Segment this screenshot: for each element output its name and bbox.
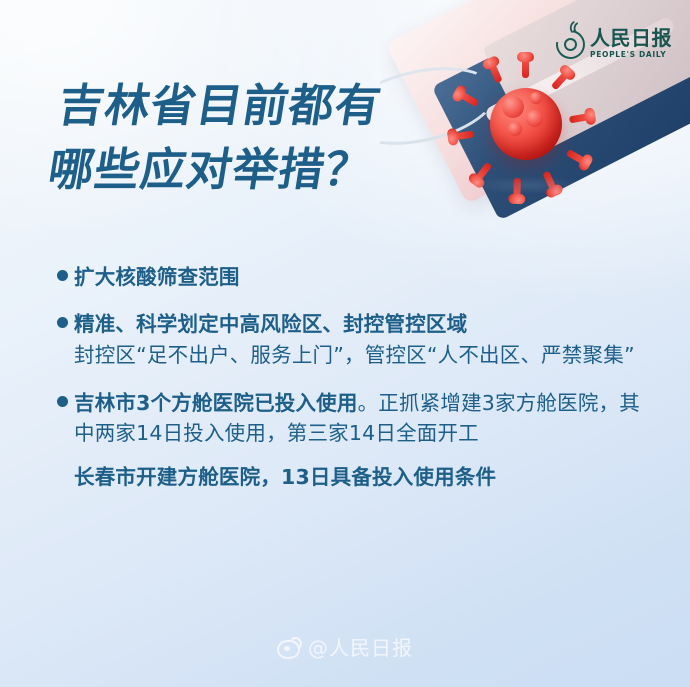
bullet-dot-icon: [57, 396, 68, 407]
poster: 人民日报 PEOPLE'S DAILY 吉林省目前都有 哪些应对举措？ 扩大核酸…: [0, 0, 690, 687]
measure-heading-text: 吉林市3个方舱医院已投入使用。正抓紧增建3家方舱医院，其中两家14日投入使用，第…: [74, 388, 647, 449]
bullet-dot-icon: [57, 270, 68, 281]
weibo-icon: [277, 638, 301, 656]
measure-heading: 扩大核酸筛查范围: [57, 262, 647, 292]
at-sign-icon: [550, 24, 590, 64]
page-title: 吉林省目前都有 哪些应对举措？: [44, 74, 386, 202]
watermark-text: @人民日报: [308, 632, 413, 661]
measure-emphasis-text: 长春市开建方舱医院，13日具备投入使用条件: [74, 462, 647, 493]
list-item: 精准、科学划定中高风险区、封控管控区域 封控区“足不出户、服务上门”，管控区“人…: [57, 309, 647, 370]
measure-bold-text: 扩大核酸筛查范围: [74, 265, 240, 289]
headline-line-2: 哪些应对举措？: [44, 138, 376, 202]
measure-bold-text: 精准、科学划定中高风险区、封控管控区域: [74, 312, 467, 336]
virus-shadow: [476, 176, 580, 194]
measure-heading: 吉林市3个方舱医院已投入使用。正抓紧增建3家方舱医院，其中两家14日投入使用，第…: [57, 388, 647, 449]
measure-heading-text: 精准、科学划定中高风险区、封控管控区域: [74, 309, 647, 339]
peoples-daily-logo: 人民日报 PEOPLE'S DAILY: [556, 28, 672, 59]
bullet-dot-icon: [57, 317, 68, 328]
measure-heading-text: 扩大核酸筛查范围: [74, 262, 647, 292]
measure-heading: 精准、科学划定中高风险区、封控管控区域: [57, 309, 647, 339]
logo-english-name: PEOPLE'S DAILY: [590, 51, 672, 59]
headline-line-1: 吉林省目前都有: [54, 74, 386, 138]
list-item: 扩大核酸筛查范围: [57, 262, 647, 292]
coronavirus-icon: [472, 70, 580, 178]
measure-subtext: 封控区“足不出户、服务上门”，管控区“人不出区、严禁聚集”: [74, 340, 647, 371]
measures-list: 扩大核酸筛查范围 精准、科学划定中高风险区、封控管控区域 封控区“足不出户、服务…: [57, 262, 647, 510]
measure-bold-text: 吉林市3个方舱医院已投入使用: [74, 391, 358, 415]
list-item: 吉林市3个方舱医院已投入使用。正抓紧增建3家方舱医院，其中两家14日投入使用，第…: [57, 388, 647, 493]
logo-chinese-name: 人民日报: [590, 28, 672, 48]
weibo-watermark: @人民日报: [0, 632, 690, 661]
